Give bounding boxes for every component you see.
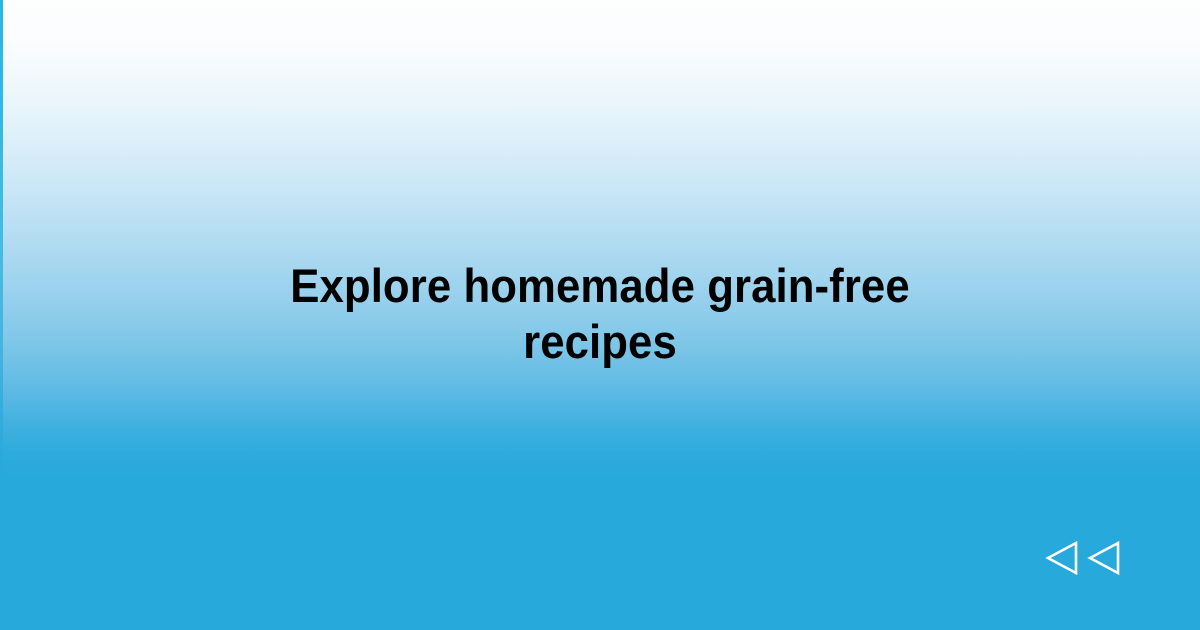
triangle-left-icon[interactable] <box>1086 540 1122 576</box>
headline-container: Explore homemade grain-free recipes <box>0 258 1200 371</box>
banner-canvas: Explore homemade grain-free recipes <box>0 0 1200 630</box>
banner-headline: Explore homemade grain-free recipes <box>247 258 954 371</box>
triangle-left-icon[interactable] <box>1044 540 1080 576</box>
rewind-button[interactable] <box>1044 540 1122 576</box>
